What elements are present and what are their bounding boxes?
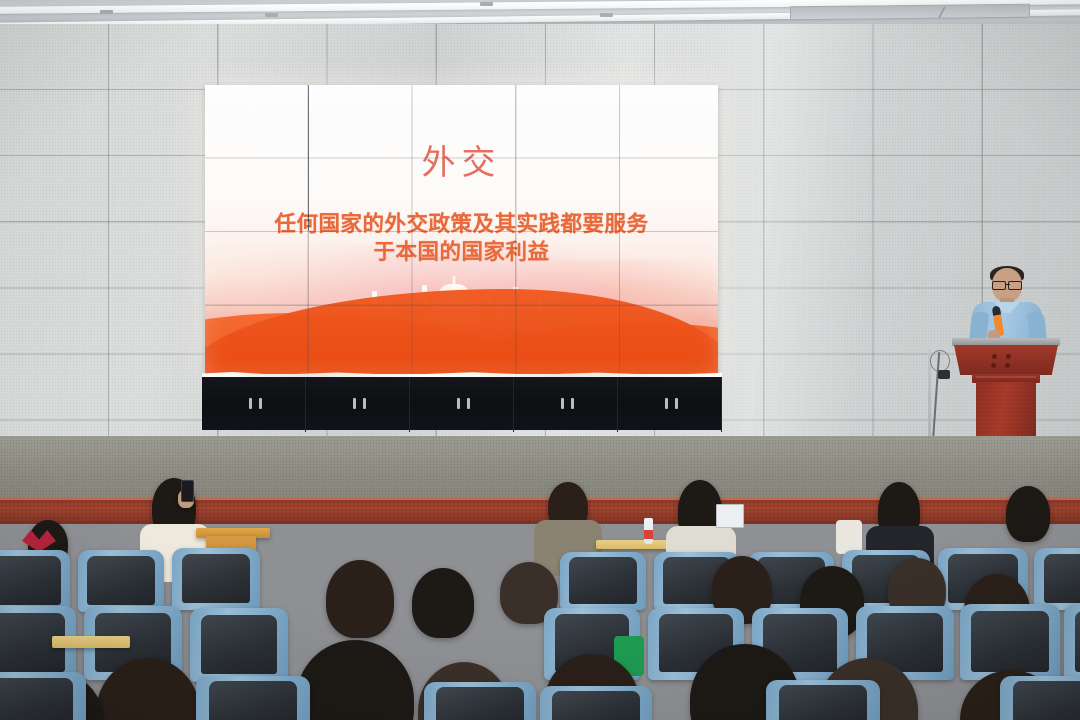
- seat[interactable]: [1064, 604, 1080, 680]
- slide-subtitle-line-2: 于本国的国家利益: [205, 239, 718, 267]
- seat[interactable]: [424, 682, 536, 720]
- cabinet-handle[interactable]: [457, 398, 460, 409]
- ceiling-fixture-dot: [480, 2, 493, 6]
- cabinet-handle[interactable]: [467, 398, 470, 409]
- audience-head: [296, 640, 414, 720]
- tote-bag: [836, 520, 862, 554]
- seat[interactable]: [0, 550, 70, 612]
- seat[interactable]: [0, 672, 86, 720]
- audience-head: [1006, 486, 1050, 542]
- cabinet-handle[interactable]: [259, 398, 262, 409]
- seat[interactable]: [196, 676, 310, 720]
- cabinet-door[interactable]: [410, 378, 514, 432]
- ceiling-fixture-dot: [100, 10, 113, 14]
- audience-head: [412, 568, 474, 638]
- slide-subtitle-line-1: 任何国家的外交政策及其实践都要服务: [205, 211, 718, 239]
- stage-cabinets[interactable]: [202, 374, 722, 430]
- audience-seating: [0, 496, 1080, 720]
- water-bottle: [644, 518, 653, 544]
- cabinet-handle[interactable]: [665, 398, 668, 409]
- video-wall-panel-seams: [308, 85, 309, 231]
- cable-loop: [930, 350, 950, 372]
- seat[interactable]: [1034, 548, 1080, 610]
- cabinet-handle[interactable]: [353, 398, 356, 409]
- smartphone: [181, 480, 194, 502]
- slide-subtitle: 任何国家的外交政策及其实践都要服务 于本国的国家利益: [205, 211, 718, 267]
- cabinet-handle[interactable]: [675, 398, 678, 409]
- seat[interactable]: [960, 604, 1060, 680]
- cabinet-door[interactable]: [306, 378, 410, 432]
- ceiling-fixture-dot: [265, 13, 278, 17]
- led-video-wall[interactable]: 外交 任何国家的外交政策及其实践都要服务 于本国的国家利益: [205, 85, 718, 375]
- cabinet-handle[interactable]: [561, 398, 564, 409]
- cabinet-door[interactable]: [514, 378, 618, 432]
- ceiling-air-vent: [790, 4, 1030, 21]
- slide-title: 外交: [205, 135, 718, 184]
- seat[interactable]: [1000, 676, 1080, 720]
- seat[interactable]: [190, 608, 288, 682]
- seat[interactable]: [560, 552, 646, 610]
- seat[interactable]: [766, 680, 880, 720]
- seat[interactable]: [540, 686, 652, 720]
- ceiling-fixture-dot: [600, 13, 613, 17]
- cable-clip: [938, 370, 950, 379]
- audience-head: [326, 560, 394, 638]
- ceiling: [0, 0, 1080, 26]
- seat[interactable]: [78, 550, 164, 612]
- cabinet-handle[interactable]: [249, 398, 252, 409]
- seat[interactable]: [172, 548, 260, 610]
- auditorium-scene: 外交 任何国家的外交政策及其实践都要服务 于本国的国家利益: [0, 0, 1080, 720]
- laptop: [716, 504, 744, 528]
- cabinet-handle[interactable]: [363, 398, 366, 409]
- cabinet-handle[interactable]: [571, 398, 574, 409]
- cabinet-door[interactable]: [618, 378, 722, 432]
- cabinet-door[interactable]: [202, 378, 306, 432]
- podium-top-surface: [952, 338, 1060, 346]
- podium-upper: [954, 345, 1058, 375]
- audience-desk: [596, 540, 668, 549]
- eyeglasses-icon: [991, 281, 1023, 288]
- fold-down-desk[interactable]: [52, 636, 130, 648]
